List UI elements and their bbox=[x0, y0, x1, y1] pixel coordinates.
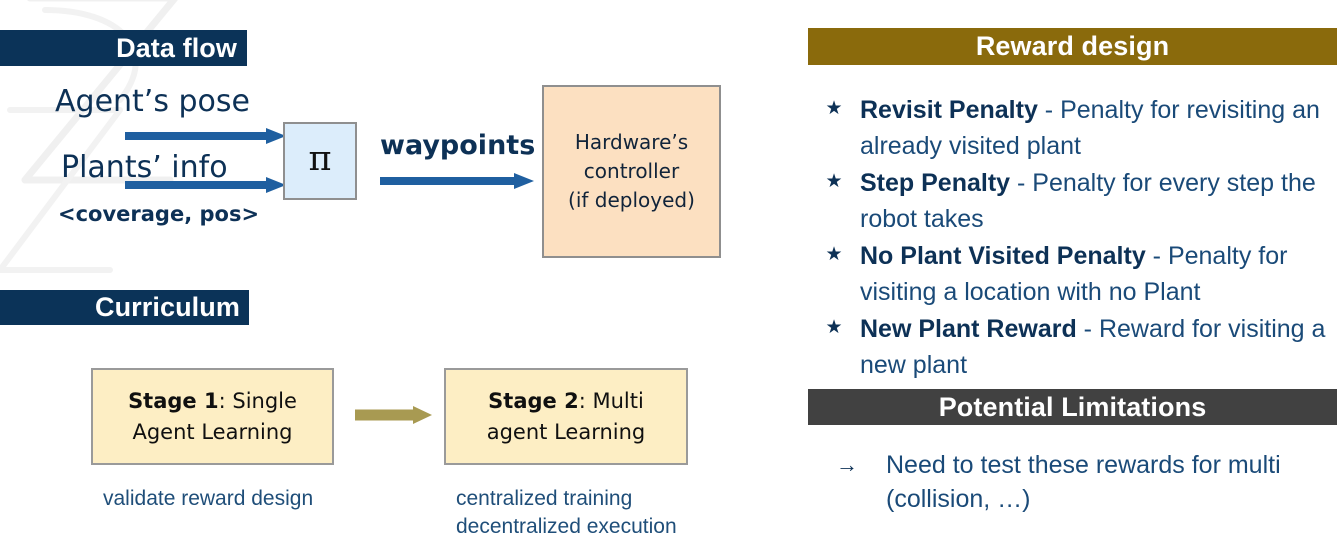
section-title-reward-design: Reward design bbox=[976, 31, 1169, 62]
hardware-line-2: controller bbox=[584, 157, 679, 186]
star-icon: ★ bbox=[808, 239, 860, 269]
list-item: ★ Revisit Penalty - Penalty for revisiti… bbox=[808, 93, 1337, 164]
stage-box-2: Stage 2: Multi agent Learning bbox=[444, 368, 688, 465]
reward-design-list: ★ Revisit Penalty - Penalty for revisiti… bbox=[808, 93, 1337, 385]
star-icon: ★ bbox=[808, 166, 860, 196]
arrow-right-icon: → bbox=[808, 448, 886, 480]
stage-2-line-1: Stage 2: Multi bbox=[488, 386, 644, 416]
reward-item-term: Step Penalty bbox=[860, 169, 1010, 197]
arrow-stage1-to-stage2 bbox=[355, 404, 433, 426]
arrow-policy-to-hardware bbox=[380, 172, 535, 190]
stage-2-caption: centralized training decentralized execu… bbox=[456, 485, 677, 542]
reward-item-term: New Plant Reward bbox=[860, 315, 1077, 343]
stage-1-line-2: Agent Learning bbox=[132, 417, 292, 447]
stage-1-caption: validate reward design bbox=[103, 485, 313, 513]
stage-2-bold-label: Stage 2 bbox=[488, 389, 579, 413]
reward-item-text: No Plant Visited Penalty - Penalty for v… bbox=[860, 239, 1337, 310]
hardware-controller-box: Hardware’s controller (if deployed) bbox=[542, 85, 721, 258]
stage-2-line-2: agent Learning bbox=[487, 417, 646, 447]
policy-box: π bbox=[283, 122, 357, 200]
input-label-agent-pose: Agent’s pose bbox=[55, 84, 250, 119]
section-header-data-flow: Data flow bbox=[0, 30, 247, 66]
arrow-plants-info-to-policy bbox=[125, 176, 287, 194]
list-item: ★ No Plant Visited Penalty - Penalty for… bbox=[808, 239, 1337, 310]
slide-canvas: Data flow Agent’s pose Plants’ info <cov… bbox=[0, 0, 1337, 548]
limitation-item-text: Need to test these rewards for multi (co… bbox=[886, 448, 1337, 516]
stage-1-line-1: Stage 1: Single bbox=[128, 386, 297, 416]
reward-item-text: Revisit Penalty - Penalty for revisiting… bbox=[860, 93, 1337, 164]
reward-item-term: No Plant Visited Penalty bbox=[860, 242, 1146, 270]
section-header-reward-design: Reward design bbox=[808, 28, 1337, 65]
reward-item-text: New Plant Reward - Reward for visiting a… bbox=[860, 312, 1337, 383]
stage-1-rest-label: : Single bbox=[219, 389, 297, 413]
list-item: ★ New Plant Reward - Reward for visiting… bbox=[808, 312, 1337, 383]
potential-limitations-list: → Need to test these rewards for multi (… bbox=[808, 448, 1337, 516]
stage-box-1: Stage 1: Single Agent Learning bbox=[91, 368, 334, 465]
hardware-line-1: Hardware’s bbox=[575, 128, 688, 157]
section-title-curriculum: Curriculum bbox=[95, 292, 240, 323]
hardware-line-3: (if deployed) bbox=[568, 186, 695, 215]
star-icon: ★ bbox=[808, 312, 860, 342]
input-sublabel-coverage-pos: <coverage, pos> bbox=[58, 202, 259, 226]
section-header-curriculum: Curriculum bbox=[0, 290, 249, 325]
star-icon: ★ bbox=[808, 93, 860, 123]
stage-1-bold-label: Stage 1 bbox=[128, 389, 219, 413]
list-item: ★ Step Penalty - Penalty for every step … bbox=[808, 166, 1337, 237]
arrow-agent-pose-to-policy bbox=[125, 127, 287, 145]
section-title-potential-limitations: Potential Limitations bbox=[939, 392, 1207, 423]
section-title-data-flow: Data flow bbox=[116, 33, 237, 64]
section-header-potential-limitations: Potential Limitations bbox=[808, 389, 1337, 425]
policy-pi-glyph: π bbox=[308, 142, 331, 181]
output-label-waypoints: waypoints bbox=[380, 130, 535, 161]
reward-item-term: Revisit Penalty bbox=[860, 96, 1038, 124]
stage-2-rest-label: : Multi bbox=[579, 389, 644, 413]
reward-item-text: Step Penalty - Penalty for every step th… bbox=[860, 166, 1337, 237]
list-item: → Need to test these rewards for multi (… bbox=[808, 448, 1337, 516]
